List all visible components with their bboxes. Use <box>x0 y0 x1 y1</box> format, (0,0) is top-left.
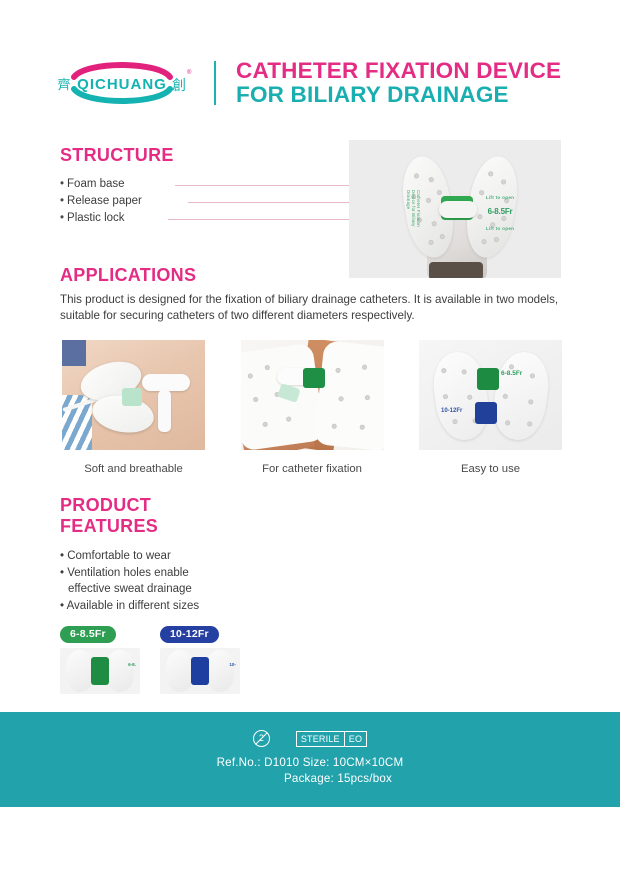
structure-item-release-paper: •Release paper <box>60 193 360 210</box>
size-option-6-8-5fr: 6-8.5Fr 6-8. <box>60 624 140 694</box>
size-option-10-12fr: 10-12Fr 10- <box>160 624 240 694</box>
device-side-text: Catheter Fixation Device for Biliary Dra… <box>411 190 421 230</box>
feature-item-comfortable: • Comfortable to wear <box>60 548 320 565</box>
ring-arc-bottom: Lift to open <box>479 226 521 231</box>
features-heading: PRODUCT FEATURES <box>60 495 158 537</box>
page-footer: 2 STERILE EO Ref.No.: D1010 Size: 10CM×1… <box>0 712 620 807</box>
feature-item-label: Available in different sizes <box>67 600 200 612</box>
company-logo: QICHUANG 齊 創 ® <box>52 55 192 111</box>
clothing-patch <box>62 340 86 366</box>
footer-package: Package: 15pcs/box <box>0 772 620 785</box>
size-photo-text: 6-8. <box>128 662 136 667</box>
plastic-lock-blue <box>191 657 209 685</box>
sterile-eo-icon: STERILE EO <box>296 731 367 747</box>
application-photo-cell-2: For catheter fixation <box>241 340 384 475</box>
photo-for-catheter-fixation <box>241 340 384 450</box>
size-photo-text: 10- <box>229 662 236 667</box>
plastic-lock-green <box>477 368 499 390</box>
application-photo-cell-3: 6-8.5Fr 10-12Fr Easy to use <box>419 340 562 475</box>
application-photo-cell-1: Soft and breathable <box>62 340 205 475</box>
ventilation-holes <box>313 340 383 450</box>
glove-cuff <box>429 262 483 278</box>
size-photo-green: 6-8. <box>60 648 140 694</box>
plastic-lock-blue <box>475 402 497 424</box>
plastic-lock <box>122 388 142 406</box>
svg-text:QICHUANG: QICHUANG <box>77 76 167 93</box>
device-size-ring: Lift to open 6-8.5Fr Lift to open <box>479 192 521 234</box>
ring-arc-top: Lift to open <box>479 195 521 200</box>
connector-tube <box>142 374 190 391</box>
plastic-lock-green <box>303 368 325 388</box>
svg-text:創: 創 <box>172 78 186 94</box>
photo-caption: Soft and breathable <box>62 463 205 475</box>
feature-item-label-continued: effective sweat drainage <box>60 581 320 598</box>
structure-item-label: Plastic lock <box>67 212 125 224</box>
photo-caption: For catheter fixation <box>241 463 384 475</box>
svg-text:®: ® <box>187 69 192 76</box>
structure-item-foam-base: •Foam base <box>60 176 360 193</box>
applications-body: This product is designed for the fixatio… <box>60 292 565 324</box>
header-divider <box>214 61 216 105</box>
page-title: CATHETER FIXATION DEVICE FOR BILIARY DRA… <box>236 59 561 107</box>
structure-heading: STRUCTURE <box>60 145 174 166</box>
structure-item-label: Release paper <box>67 195 142 207</box>
list-bullet: • <box>60 212 64 224</box>
svg-text:齊: 齊 <box>57 78 70 93</box>
structure-list: •Foam base •Release paper •Plastic lock <box>60 176 360 227</box>
applications-heading: APPLICATIONS <box>60 265 196 286</box>
structure-item-label: Foam base <box>67 178 125 190</box>
feature-item-sizes: • Available in different sizes <box>60 598 320 615</box>
ring-size-label: 6-8.5Fr <box>479 207 521 216</box>
features-heading-line-2: FEATURES <box>60 516 158 537</box>
feature-item-label: Comfortable to wear <box>67 550 171 562</box>
size-options-row: 6-8.5Fr 6-8. 10-12Fr 10- <box>60 624 240 694</box>
title-line-1: CATHETER FIXATION DEVICE <box>236 59 561 83</box>
photo-caption: Easy to use <box>419 463 562 475</box>
sterile-method-label: EO <box>344 732 366 746</box>
size-label-blue: 10-12Fr <box>441 408 462 414</box>
size-badge-blue: 10-12Fr <box>160 626 219 643</box>
features-heading-line-1: PRODUCT <box>60 495 158 516</box>
photo-easy-to-use: 6-8.5Fr 10-12Fr <box>419 340 562 450</box>
title-line-2: FOR BILIARY DRAINAGE <box>236 83 561 107</box>
size-label-green: 6-8.5Fr <box>501 370 522 377</box>
device-wing-left <box>66 650 94 692</box>
plastic-lock-green <box>91 657 109 685</box>
lock-white-body <box>439 201 477 218</box>
list-bullet: • <box>60 600 64 612</box>
size-photo-blue: 10- <box>160 648 240 694</box>
application-photo-row: Soft and breathable <box>62 340 562 475</box>
size-badge-green: 6-8.5Fr <box>60 626 116 643</box>
features-list: • Comfortable to wear • Ventilation hole… <box>60 548 320 614</box>
footer-ref-and-size: Ref.No.: D1010 Size: 10CM×10CM <box>0 756 620 769</box>
device-pad-right <box>313 340 383 450</box>
do-not-reuse-icon: 2 <box>253 730 270 747</box>
logo-icon: QICHUANG 齊 創 ® <box>52 57 192 109</box>
list-bullet: • <box>60 567 64 579</box>
footer-symbol-row: 2 STERILE EO <box>0 730 620 747</box>
structure-item-plastic-lock: •Plastic lock <box>60 210 360 227</box>
connector-tube-2 <box>158 390 171 432</box>
sterile-label: STERILE <box>297 732 344 746</box>
feature-item-ventilation: • Ventilation holes enable effective swe… <box>60 565 320 598</box>
list-bullet: • <box>60 550 64 562</box>
device-wing-left <box>166 650 194 692</box>
device-wing-right <box>106 650 134 692</box>
photo-soft-and-breathable <box>62 340 205 450</box>
page-header: QICHUANG 齊 創 ® CATHETER FIXATION DEVICE … <box>0 52 620 114</box>
structure-product-photo: Catheter Fixation Device for Biliary Dra… <box>349 140 561 278</box>
list-bullet: • <box>60 178 64 190</box>
list-bullet: • <box>60 195 64 207</box>
feature-item-label: Ventilation holes enable <box>67 567 189 579</box>
device-wing-right <box>206 650 234 692</box>
